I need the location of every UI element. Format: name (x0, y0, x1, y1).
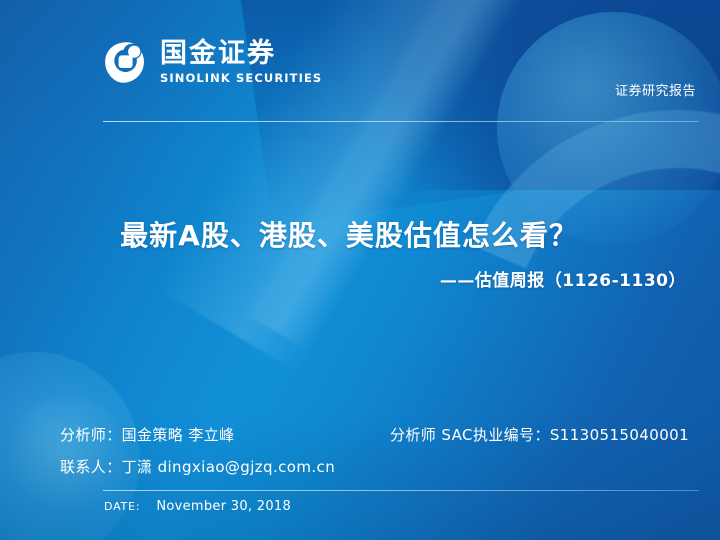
analyst-sac-number: 分析师 SAC执业编号：S1130515040001 (390, 424, 689, 445)
brand-name-en: SINOLINK SECURITIES (160, 71, 322, 85)
cover-slide: 国金证券 SINOLINK SECURITIES 证券研究报告 最新A股、港股、… (0, 0, 720, 540)
brand-logo-wordmark: 国金证券 SINOLINK SECURITIES (160, 40, 322, 85)
date-value: November 30, 2018 (156, 499, 291, 514)
slide-title: 最新A股、港股、美股估值怎么看？ (0, 214, 698, 254)
date-label: DATE: (104, 500, 140, 513)
credits-row-contact: 联系人：丁潇 dingxiao@gjzq.com.cn (60, 456, 692, 477)
footer-date: DATE: November 30, 2018 (104, 499, 291, 514)
slide-subtitle: ——估值周报（1126-1130） (440, 266, 686, 291)
footer-divider (103, 490, 699, 491)
header-divider (103, 121, 699, 122)
credits-row-analyst: 分析师：国金策略 李立峰 分析师 SAC执业编号：S1130515040001 (60, 424, 692, 445)
brand-name-cn: 国金证券 (160, 40, 322, 68)
analyst-name: 分析师：国金策略 李立峰 (60, 424, 235, 445)
report-type-tag: 证券研究报告 (615, 80, 696, 99)
contact-person: 联系人：丁潇 dingxiao@gjzq.com.cn (60, 456, 335, 477)
brand-logo: 国金证券 SINOLINK SECURITIES (104, 40, 322, 85)
sinolink-circle-mark-icon (104, 41, 148, 85)
slide-content: 国金证券 SINOLINK SECURITIES 证券研究报告 最新A股、港股、… (0, 0, 720, 540)
